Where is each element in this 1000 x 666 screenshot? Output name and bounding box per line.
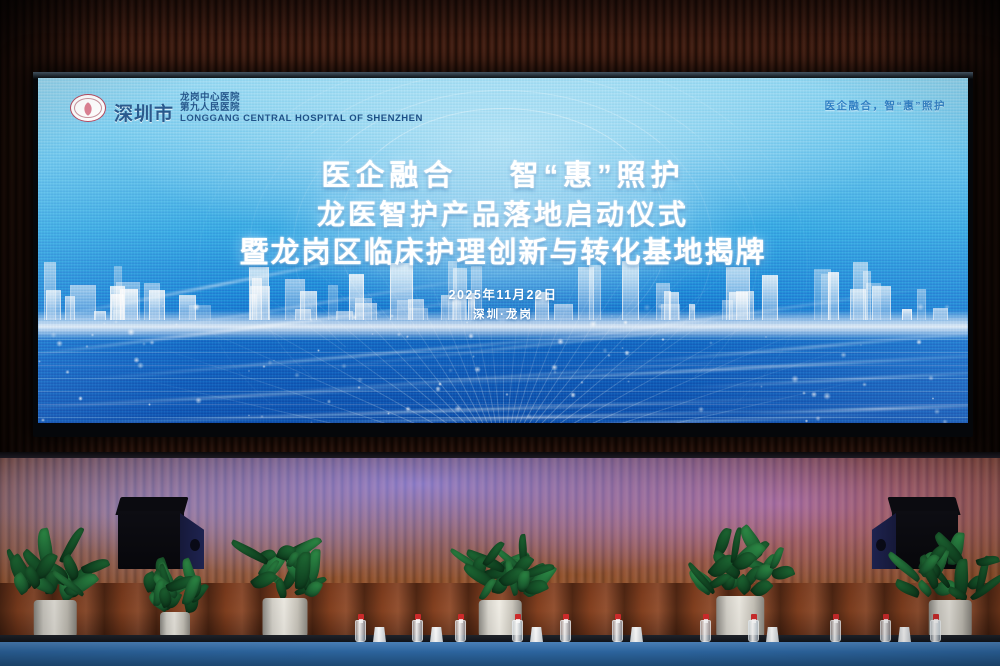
title-line-2: 龙医智护产品落地启动仪式 xyxy=(38,199,968,231)
drinking-cup xyxy=(630,627,643,642)
led-screen-bezel: 深圳市 龙岗中心医院 第九人民医院 LONGGANG CENTRAL HOSPI… xyxy=(33,72,973,437)
bottle-neck xyxy=(459,619,463,623)
potted-plant xyxy=(916,512,984,640)
bottle-body xyxy=(880,620,891,642)
bottle-body xyxy=(455,620,466,642)
drinking-cup xyxy=(373,627,386,642)
potted-plant xyxy=(21,510,89,640)
conference-hall-scene: 深圳市 龙岗中心医院 第九人民医院 LONGGANG CENTRAL HOSPI… xyxy=(0,0,1000,666)
wall-top-shadow xyxy=(0,0,1000,60)
drinking-cup xyxy=(766,627,779,642)
plant-foliage xyxy=(459,502,541,600)
bottle-neck xyxy=(884,619,888,623)
potted-plant xyxy=(151,540,199,640)
plant-foliage xyxy=(694,492,785,596)
hospital-name-english: LONGGANG CENTRAL HOSPITAL OF SHENZHEN xyxy=(180,114,423,124)
water-bottle xyxy=(355,620,366,642)
water-bottle xyxy=(455,620,466,642)
water-bottle xyxy=(930,620,941,642)
water-bottle xyxy=(560,620,571,642)
title-line-1: 医企融合 智“惠”照护 xyxy=(38,160,968,194)
plant-foliage xyxy=(146,544,204,612)
bottle-body xyxy=(355,620,366,642)
water-bottle xyxy=(412,620,423,642)
water-bottle xyxy=(748,620,759,642)
title-line-1-part-1: 医企融合 xyxy=(321,160,457,192)
bottle-neck xyxy=(564,619,568,623)
bottle-body xyxy=(512,620,523,642)
bottle-neck xyxy=(934,619,938,623)
water-bottle xyxy=(830,620,841,642)
drinking-cup xyxy=(898,627,911,642)
speaker-port-icon xyxy=(876,539,886,551)
event-place: 深圳·龙岗 xyxy=(38,306,968,322)
water-bottle xyxy=(700,620,711,642)
drinking-cup xyxy=(430,627,443,642)
plant-foliage xyxy=(14,502,96,600)
bottle-body xyxy=(412,620,423,642)
hospital-name-group: 深圳市 龙岗中心医院 第九人民医院 LONGGANG CENTRAL HOSPI… xyxy=(114,93,423,124)
bottle-body xyxy=(612,620,623,642)
potted-plant xyxy=(466,510,534,640)
hospital-city-label: 深圳市 xyxy=(114,105,174,124)
water-bottle xyxy=(612,620,623,642)
plant-pot xyxy=(34,600,77,640)
event-meta: 2025年11月22日 深圳·龙岗 xyxy=(38,284,968,322)
bottle-neck xyxy=(834,619,838,623)
potted-plant xyxy=(249,506,321,640)
led-screen: 深圳市 龙岗中心医院 第九人民医院 LONGGANG CENTRAL HOSPI… xyxy=(38,78,968,423)
hospital-seal-icon xyxy=(70,94,106,122)
hospital-name-lines: 龙岗中心医院 第九人民医院 LONGGANG CENTRAL HOSPITAL … xyxy=(180,93,423,124)
bottle-neck xyxy=(416,619,420,623)
title-line-3: 暨龙岗区临床护理创新与转化基地揭牌 xyxy=(38,237,968,271)
plant-foliage xyxy=(242,496,328,598)
corner-slogan-text: 医企融合，智“惠”照护 xyxy=(825,98,947,113)
bottle-neck xyxy=(752,619,756,623)
bottle-body xyxy=(700,620,711,642)
bottle-neck xyxy=(616,619,620,623)
bottle-neck xyxy=(516,619,520,623)
title-line-1-part-2: 智“惠”照护 xyxy=(510,160,685,192)
plant-foliage xyxy=(909,504,991,600)
hospital-name-line-2: 第九人民医院 xyxy=(180,103,423,113)
bottle-body xyxy=(930,620,941,642)
front-table-skirt xyxy=(0,642,1000,666)
water-bottle xyxy=(512,620,523,642)
water-bottle xyxy=(880,620,891,642)
drinking-cup xyxy=(530,627,543,642)
front-table-top xyxy=(0,635,1000,642)
seal-ring xyxy=(74,98,102,118)
hospital-logo: 深圳市 龙岗中心医院 第九人民医院 LONGGANG CENTRAL HOSPI… xyxy=(70,93,423,124)
bottle-body xyxy=(560,620,571,642)
bottle-body xyxy=(830,620,841,642)
potted-plant xyxy=(702,504,778,640)
bottle-neck xyxy=(704,619,708,623)
bottle-body xyxy=(748,620,759,642)
bottle-neck xyxy=(359,619,363,623)
event-date: 2025年11月22日 xyxy=(38,284,968,303)
event-title-block: 医企融合 智“惠”照护 龙医智护产品落地启动仪式 暨龙岗区临床护理创新与转化基地… xyxy=(38,160,968,322)
plant-pot xyxy=(263,598,308,640)
